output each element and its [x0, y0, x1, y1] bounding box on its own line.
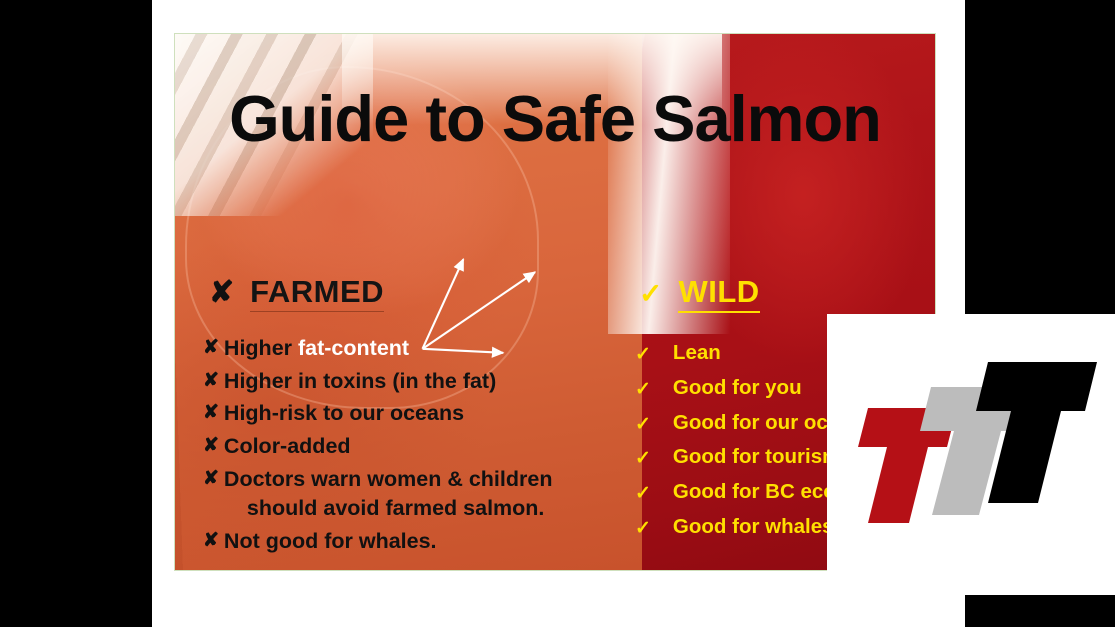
farmed-column: ✘ FARMED ✘ Higher fat-content ✘ Higher i… [203, 274, 603, 560]
page-title: Guide to Safe Salmon [175, 86, 935, 151]
check-mark-icon: ✓ [635, 447, 651, 471]
wild-item-text: Good for tourism [673, 447, 840, 468]
check-mark-icon: ✓ [635, 517, 651, 541]
cross-mark-icon: ✘ [209, 278, 234, 308]
list-item: ✘ High-risk to our oceans [203, 399, 603, 429]
list-item: ✘ Color-added [203, 432, 603, 462]
cross-mark-icon: ✘ [203, 367, 219, 395]
wild-item-text: Lean [673, 343, 721, 364]
cross-mark-icon: ✘ [203, 432, 219, 460]
wild-heading: WILD [678, 274, 759, 313]
wild-heading-row: ✓ WILD [635, 274, 935, 313]
farmed-item-text: Color-added [224, 432, 351, 462]
check-mark-icon: ✓ [635, 378, 651, 402]
letterbox-right-top [965, 0, 1115, 314]
cross-mark-icon: ✘ [203, 527, 219, 555]
farmed-item-highlight: fat-content [298, 336, 409, 360]
check-mark-icon: ✓ [635, 343, 651, 367]
farmed-item-line1: Doctors warn women & children [224, 467, 553, 491]
cross-mark-icon: ✘ [203, 334, 219, 362]
farmed-item-line2: should avoid farmed salmon. [224, 494, 553, 524]
list-item: ✘ Higher in toxins (in the fat) [203, 367, 603, 397]
list-item: ✘ Higher fat-content [203, 334, 603, 364]
cross-mark-icon: ✘ [203, 399, 219, 427]
farmed-item-text: Higher in toxins (in the fat) [224, 367, 496, 397]
farmed-heading: FARMED [250, 274, 384, 312]
letterbox-bottom-right [965, 595, 1115, 627]
farmed-item-text: Not good for whales. [224, 527, 437, 557]
farmed-item-lead: Higher [224, 336, 298, 360]
farmed-item-text: Doctors warn women & childrenshould avoi… [224, 465, 553, 524]
salmon-poster: Guide to Safe Salmon ✘ FARMED ✘ Higher f… [174, 33, 936, 571]
ttt-logo[interactable] [852, 355, 1097, 523]
wild-item-text: Good for whales [673, 517, 834, 538]
screenshot-stage: Guide to Safe Salmon ✘ FARMED ✘ Higher f… [0, 0, 1115, 627]
list-item: ✘ Doctors warn women & childrenshould av… [203, 465, 603, 524]
farmed-heading-row: ✘ FARMED [203, 274, 603, 312]
farmed-list: ✘ Higher fat-content ✘ Higher in toxins … [203, 334, 603, 557]
check-mark-icon: ✓ [639, 280, 662, 308]
list-item: ✘ Not good for whales. [203, 527, 603, 557]
check-mark-icon: ✓ [635, 413, 651, 437]
wild-item-text: Good for you [673, 378, 802, 399]
cross-mark-icon: ✘ [203, 465, 219, 493]
farmed-item-text: High-risk to our oceans [224, 399, 464, 429]
check-mark-icon: ✓ [635, 482, 651, 506]
farmed-item-text: Higher fat-content [224, 334, 409, 364]
